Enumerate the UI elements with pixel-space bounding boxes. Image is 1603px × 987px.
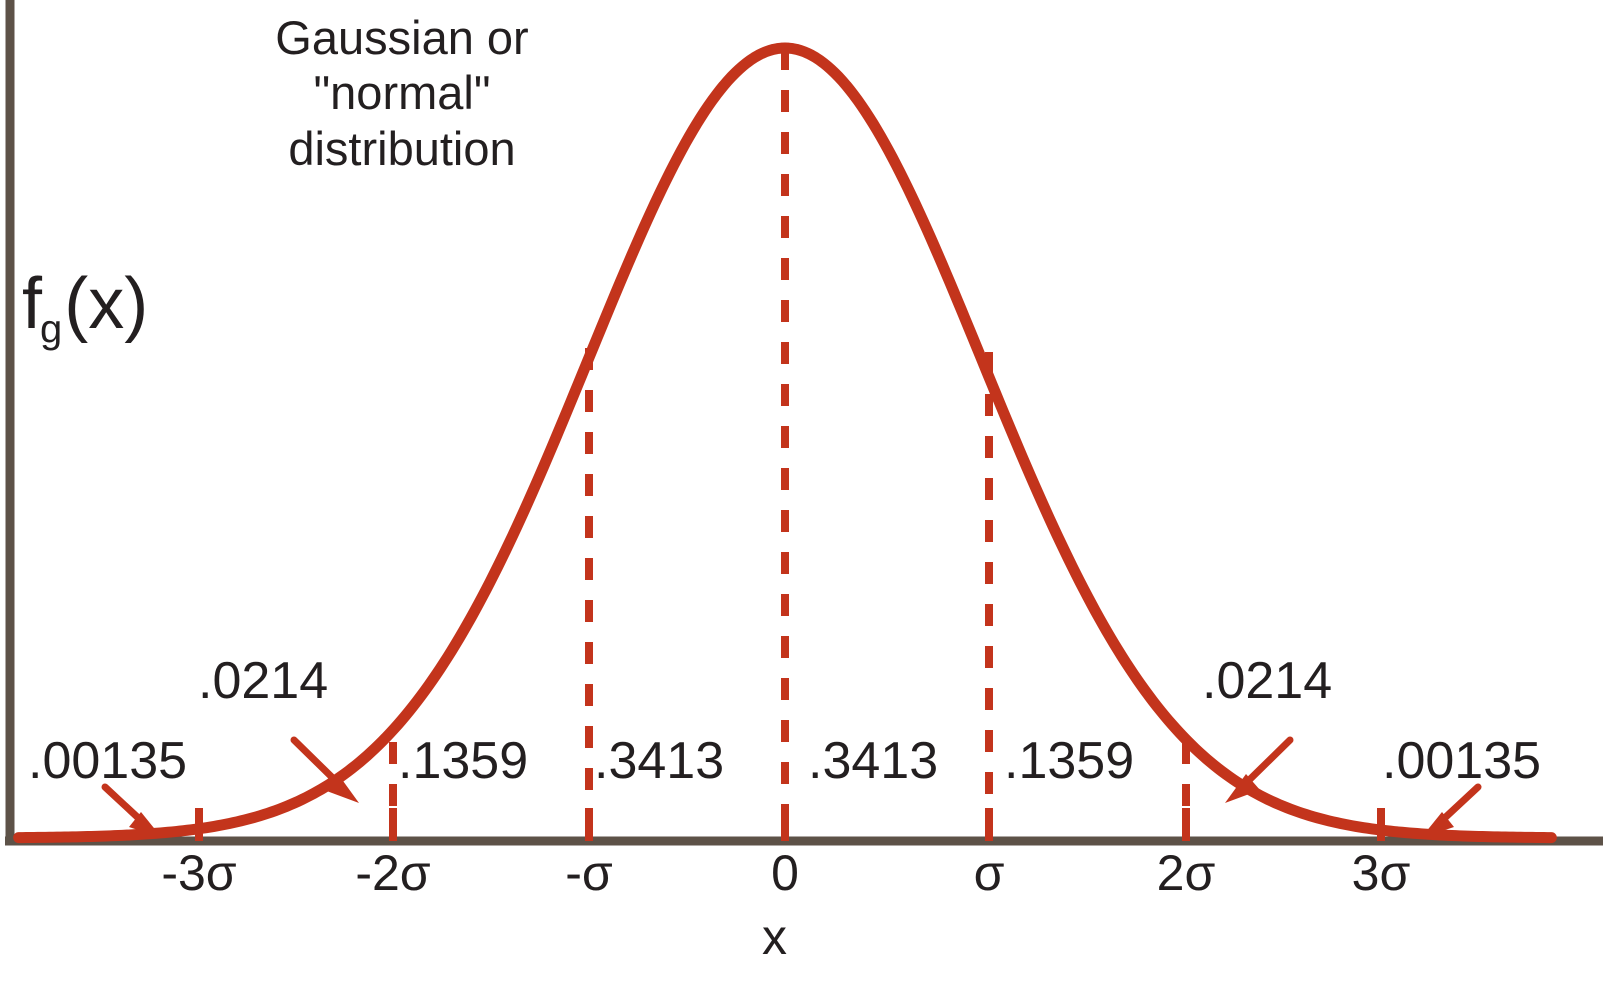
chart-title: Gaussian or "normal" distribution bbox=[232, 10, 572, 176]
x-axis-ticks bbox=[199, 808, 1381, 841]
probability-label-00135-left: .00135 bbox=[28, 735, 187, 787]
x-axis-title: x bbox=[762, 912, 787, 962]
title-line-3: distribution bbox=[232, 121, 572, 176]
probability-label-0214-left: .0214 bbox=[198, 655, 328, 707]
probability-label-0214-right: .0214 bbox=[1202, 655, 1332, 707]
y-axis-label-main: f bbox=[22, 264, 42, 344]
tick-label-plus-1-sigma: σ bbox=[929, 848, 1049, 898]
tick-label-zero: 0 bbox=[725, 848, 845, 898]
probability-label-00135-right: .00135 bbox=[1382, 735, 1541, 787]
gaussian-distribution-figure: Gaussian or "normal" distribution fg(x) … bbox=[0, 0, 1603, 987]
title-line-2: "normal" bbox=[232, 65, 572, 120]
probability-label-1359-left: .1359 bbox=[398, 735, 528, 787]
probability-label-3413-right: .3413 bbox=[808, 735, 938, 787]
tick-label-plus-2-sigma: 2σ bbox=[1126, 848, 1246, 898]
tick-label-minus-3-sigma: -3σ bbox=[139, 848, 259, 898]
y-axis-label-tail: (x) bbox=[64, 264, 148, 344]
probability-label-1359-right: .1359 bbox=[1004, 735, 1134, 787]
tick-label-plus-3-sigma: 3σ bbox=[1321, 848, 1441, 898]
probability-label-3413-left: .3413 bbox=[594, 735, 724, 787]
tick-label-minus-2-sigma: -2σ bbox=[333, 848, 453, 898]
y-axis-label: fg(x) bbox=[22, 268, 148, 340]
y-axis-label-subscript: g bbox=[40, 307, 62, 351]
title-line-1: Gaussian or bbox=[232, 10, 572, 65]
tick-label-minus-1-sigma: -σ bbox=[529, 848, 649, 898]
